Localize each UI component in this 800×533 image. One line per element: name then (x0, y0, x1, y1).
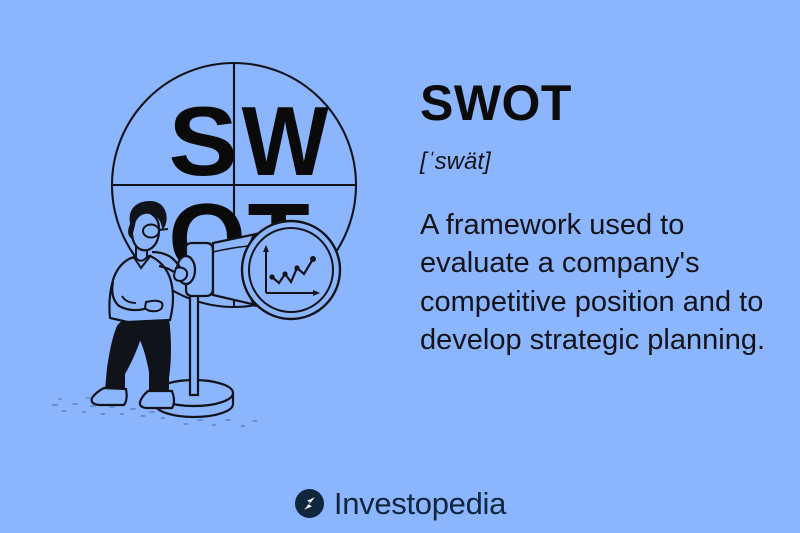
lens-inner-ring (249, 228, 333, 312)
swot-illustration: S W O T (0, 0, 400, 470)
chart-point (269, 274, 274, 279)
person-hand-upper (174, 268, 187, 282)
investopedia-bolt-icon (294, 488, 325, 519)
page-title: SWOT (420, 78, 770, 128)
brand-name: Investopedia (334, 488, 506, 519)
person-shirt (109, 256, 173, 322)
person-glasses-temple (159, 229, 168, 230)
chart-point (294, 265, 299, 270)
infographic-card: S W O T (0, 0, 800, 533)
definition-text-block: SWOT [ˈswät] A framework used to evaluat… (420, 78, 770, 359)
quadrant-letter-s: S (169, 88, 238, 197)
person-shoe-back (92, 388, 127, 405)
stand-pole (190, 283, 198, 395)
definition-text: A framework used to evaluate a company's… (420, 206, 765, 359)
person-trousers (106, 318, 170, 392)
quadrant-letter-w: W (242, 87, 329, 196)
person-shoe-front (140, 391, 174, 408)
pronunciation: [ˈswät] (420, 150, 770, 174)
person-hand-lower (145, 301, 162, 311)
illustration-svg: S W O T (0, 0, 400, 470)
chart-point (310, 256, 316, 262)
brand-footer: Investopedia (0, 488, 800, 519)
chart-point (282, 271, 287, 276)
telescope-lens (242, 221, 340, 319)
